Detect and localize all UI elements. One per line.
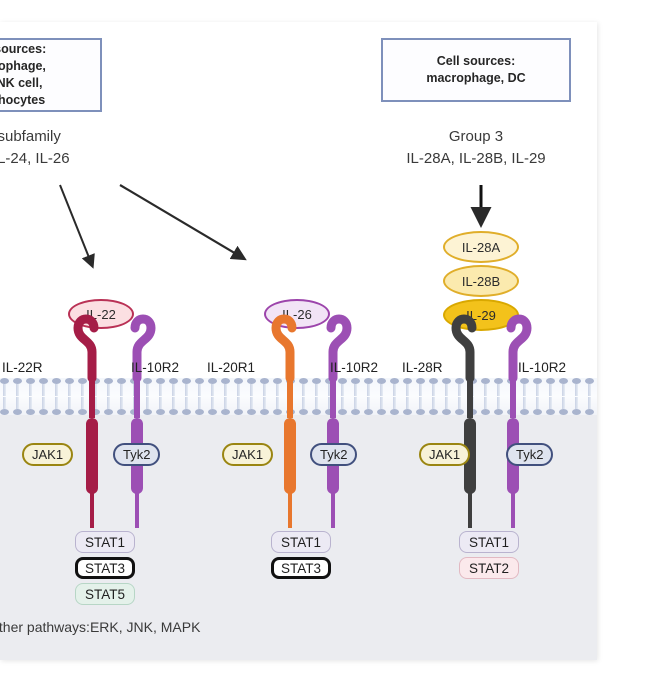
stat-left-2[interactable]: STAT3 [75,557,135,579]
kinase-jak1-left[interactable]: JAK1 [22,443,73,466]
stat-middle-1[interactable]: STAT1 [271,531,331,553]
kinase-jak1-right[interactable]: JAK1 [419,443,470,466]
stat-middle-2[interactable]: STAT3 [271,557,331,579]
other-pathways-note: Other pathways:ERK, JNK, MAPK [0,619,200,635]
receptor-il-10r2-right[interactable] [507,319,527,528]
kinase-tyk2-left[interactable]: Tyk2 [113,443,160,466]
figure-canvas: Cell sources:macrophage,DC, NK cell,lymp… [0,22,597,660]
receptor-il-10r2-middle[interactable] [327,319,347,528]
stat-left-1[interactable]: STAT1 [75,531,135,553]
receptor-il-10r2-left[interactable] [131,319,151,528]
receptor-label-il-10r2-left: IL-10R2 [131,360,179,375]
stat-left-3[interactable]: STAT5 [75,583,135,605]
receptor-label-il-22r: IL-22R [2,360,43,375]
receptor-il-22r[interactable] [78,319,98,528]
receptor-label-il-20r1: IL-20R1 [207,360,255,375]
receptor-il-20r1[interactable] [276,319,296,528]
receptor-label-il-10r2-right: IL-10R2 [518,360,566,375]
stat-right-1[interactable]: STAT1 [459,531,519,553]
receptor-label-il-10r2-middle: IL-10R2 [330,360,378,375]
receptor-label-il-28r: IL-28R [402,360,443,375]
kinase-jak1-middle[interactable]: JAK1 [222,443,273,466]
kinase-tyk2-right[interactable]: Tyk2 [506,443,553,466]
stat-right-2[interactable]: STAT2 [459,557,519,579]
kinase-tyk2-middle[interactable]: Tyk2 [310,443,357,466]
receptor-il-28r[interactable] [456,319,476,528]
